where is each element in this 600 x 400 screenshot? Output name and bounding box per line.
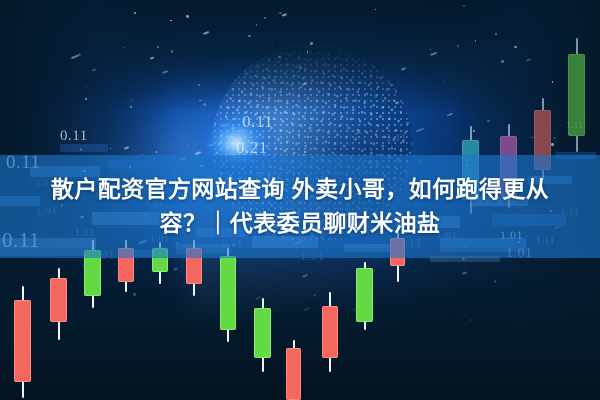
candlestick-body <box>254 308 271 358</box>
page-title-line-1: 散户配资官方网站查询 外卖小哥，如何跑得更从 <box>51 175 549 204</box>
particle-dot <box>85 98 87 100</box>
candlestick-body <box>568 54 585 136</box>
banner-image: 0.110.110.111.011.011.011.010.110.211.01… <box>0 0 600 400</box>
particle-dot <box>299 66 302 69</box>
particle-dot <box>272 42 273 43</box>
particle-dot <box>444 81 445 82</box>
candlestick <box>254 298 271 372</box>
particle-dot <box>186 15 189 18</box>
particle-dot <box>170 20 172 22</box>
particle-dot <box>134 12 136 14</box>
candlestick <box>568 38 585 152</box>
particle-dot <box>264 17 266 19</box>
particle-dot <box>310 42 312 44</box>
particle-dot <box>551 143 554 146</box>
candlestick-body <box>220 256 236 330</box>
particle-dot <box>124 47 125 48</box>
candlestick-body <box>50 278 67 322</box>
candlestick-body <box>14 300 31 382</box>
page-title-line-2: 容？｜代表委员聊财米油盐 <box>160 209 441 238</box>
candlestick-body <box>286 348 301 400</box>
candlestick <box>286 340 301 400</box>
particle-dot <box>475 40 477 42</box>
data-plate <box>60 144 108 152</box>
particle-dot <box>198 84 200 86</box>
particle-dot <box>375 9 376 10</box>
data-number: 0.11 <box>242 112 273 132</box>
candlestick <box>220 248 236 342</box>
candlestick <box>14 286 31 398</box>
particle-dot <box>495 33 497 35</box>
candlestick-body <box>322 306 338 358</box>
candlestick <box>50 268 67 340</box>
particle-dot <box>171 50 174 53</box>
candlestick-body <box>356 268 373 322</box>
data-number: 1.11 <box>386 132 407 144</box>
title-band: 散户配资官方网站查询 外卖小哥，如何跑得更从 容？｜代表委员聊财米油盐 <box>0 155 600 258</box>
candlestick <box>356 262 373 330</box>
particle-dot <box>501 60 504 63</box>
particle-dot <box>248 35 250 37</box>
candlestick <box>322 292 338 372</box>
particle-dot <box>430 49 431 50</box>
data-number: 0.11 <box>60 128 88 145</box>
